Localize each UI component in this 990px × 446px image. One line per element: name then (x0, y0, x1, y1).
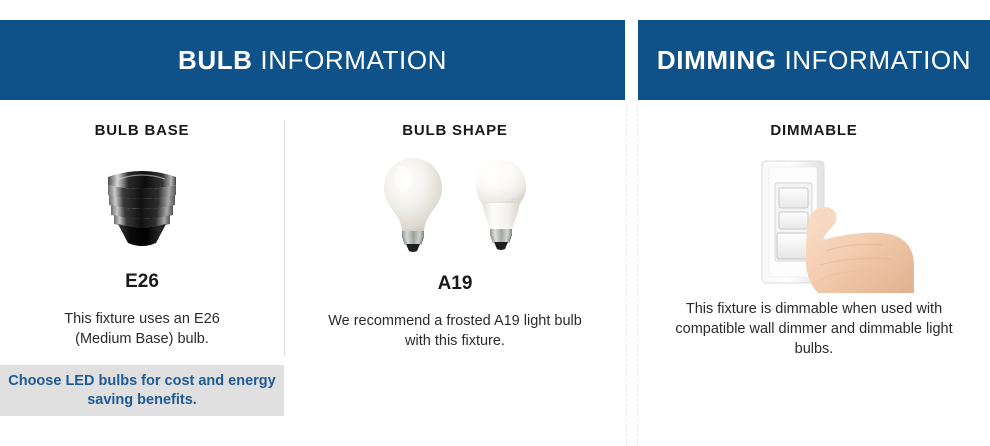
bulb-base-heading: BULB BASE (0, 122, 284, 139)
bulb-information-title: BULB INFORMATION (178, 45, 447, 76)
led-callout-text: Choose LED bulbs for cost and energy sav… (0, 372, 284, 410)
led-callout-box: Choose LED bulbs for cost and energy sav… (0, 365, 284, 416)
e26-screw-base-icon (92, 161, 192, 253)
bulb-shape-art (360, 159, 550, 259)
dimming-information-title-bold: DIMMING (657, 45, 777, 75)
frosted-incandescent-bulb-icon (376, 154, 450, 259)
dimming-information-title-light: INFORMATION (784, 45, 971, 75)
dimmable-blurb: This fixture is dimmable when used with … (638, 299, 990, 359)
bulb-base-spec: E26 (0, 271, 284, 293)
bulb-information-panel: BULB INFORMATION DIMMING INFORMATION BUL… (0, 0, 990, 446)
bulb-information-banner: BULB INFORMATION (0, 20, 625, 100)
dimmable-heading: DIMMABLE (638, 122, 990, 139)
dimming-information-banner: DIMMING INFORMATION (638, 20, 990, 100)
bulb-shape-spec: A19 (285, 273, 625, 295)
perforation-line-left (626, 104, 627, 446)
bulb-information-title-light: INFORMATION (260, 45, 447, 75)
wall-dimmer-switch-with-hand-icon (714, 153, 914, 293)
dimmable-column: DIMMABLE (638, 110, 990, 359)
led-bulb-icon (468, 154, 534, 259)
dimming-information-title: DIMMING INFORMATION (657, 45, 971, 76)
bulb-shape-column: BULB SHAPE (285, 110, 625, 351)
bulb-base-column: BULB BASE (0, 110, 284, 349)
bulb-shape-blurb: We recommend a frosted A19 light bulb wi… (285, 311, 625, 351)
bulb-information-title-bold: BULB (178, 45, 253, 75)
bulb-shape-heading: BULB SHAPE (285, 122, 625, 139)
bulb-base-blurb: This fixture uses an E26 (Medium Base) b… (0, 309, 284, 349)
